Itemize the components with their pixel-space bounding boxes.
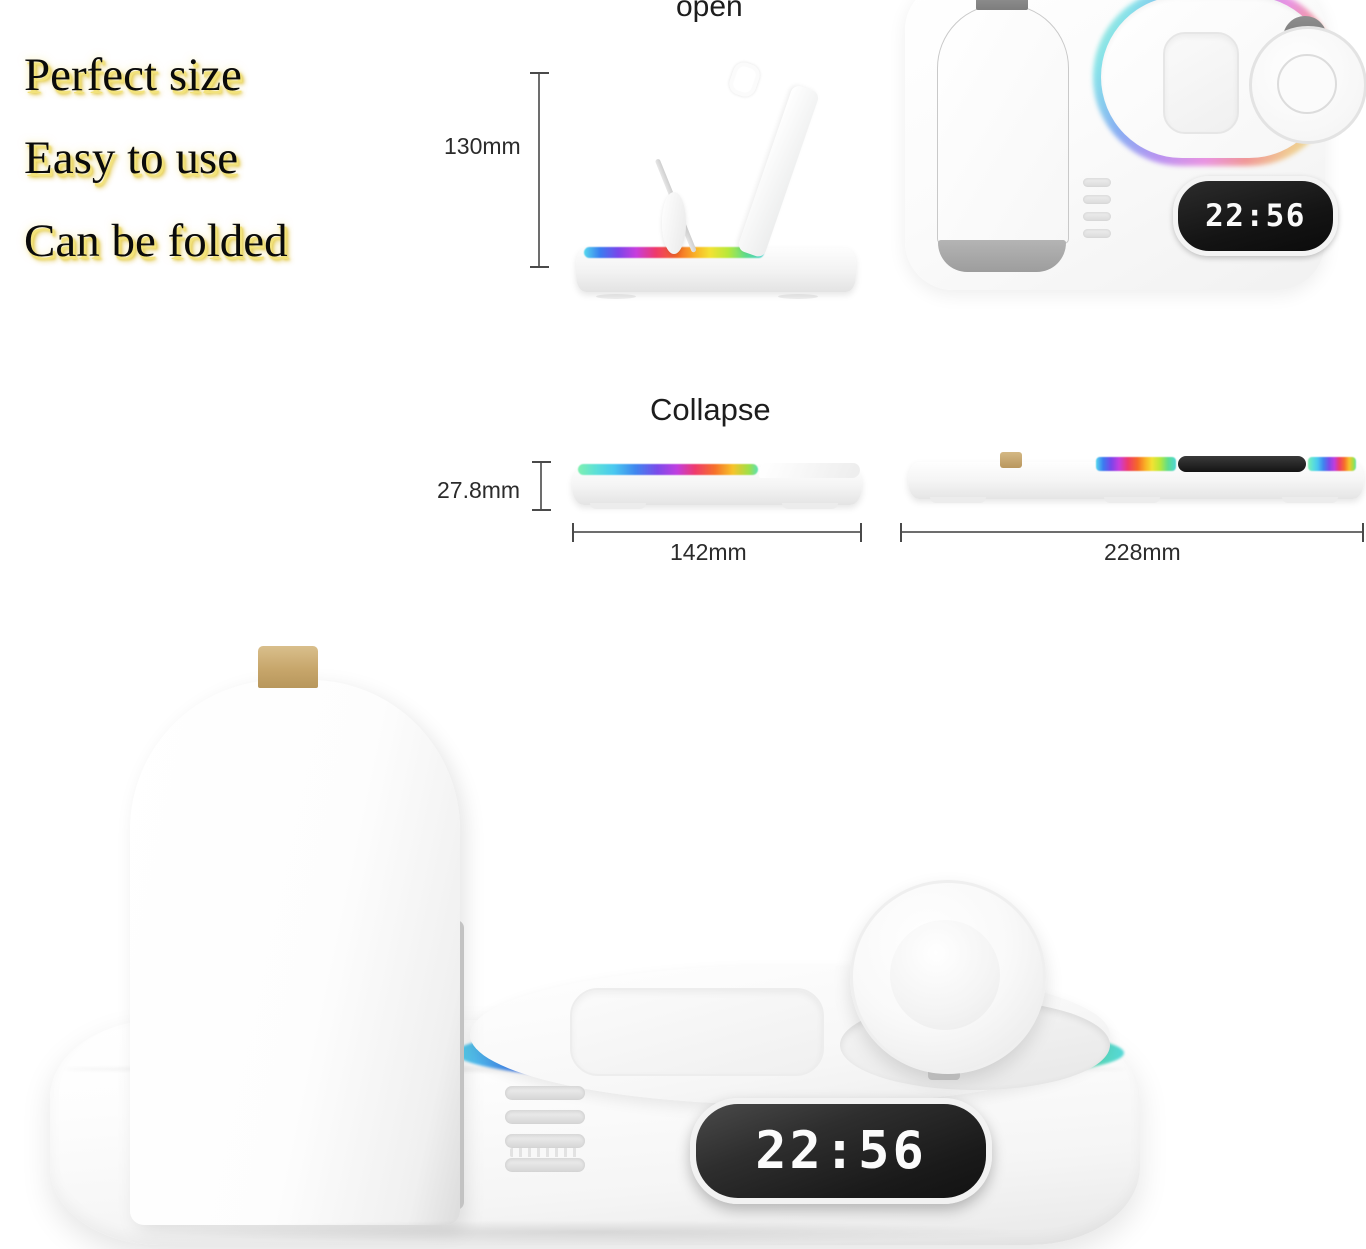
dimension-stem: [540, 461, 542, 511]
headline-block: Perfect size Easy to use Can be folded: [24, 34, 444, 283]
earbuds-charging-pad: [570, 988, 824, 1076]
dimension-cap-right: [1362, 523, 1364, 542]
collapse-section-label: Collapse: [650, 392, 771, 428]
open-section-label: open: [676, 0, 743, 24]
dimension-stem: [572, 531, 862, 533]
led-clock-display: 22:56: [1173, 176, 1338, 256]
speaker-slot: [505, 1134, 585, 1148]
dimension-cap-top: [532, 461, 551, 463]
speaker-grille: [505, 1086, 585, 1182]
dock-foot-right: [778, 294, 818, 299]
ground-shadow: [150, 1220, 1030, 1244]
product-collapsed-long-side-view: [908, 448, 1364, 510]
dimension-stem: [900, 531, 1364, 533]
dock-foot-left: [596, 294, 636, 299]
dimension-label-collapsed-width-short: 142mm: [670, 539, 747, 566]
led-clock-display: [1178, 456, 1306, 472]
charging-deck: [1101, 0, 1330, 158]
phone-stand-connector-tab: [976, 0, 1028, 10]
product-top-down-view: 22:56: [905, 0, 1325, 290]
speaker-slot: [505, 1110, 585, 1124]
clock-time-text: 22:56: [1205, 198, 1306, 234]
phone-stand-foot: [938, 240, 1066, 272]
speaker-slot: [1083, 229, 1111, 238]
speaker-slot: [505, 1158, 585, 1172]
stand-top-hook: [726, 60, 762, 100]
watch-charger-coil: [1277, 54, 1337, 114]
dimension-cap-left: [900, 523, 902, 542]
dimension-cap-bottom: [530, 266, 549, 268]
product-collapsed-short-side-view: [572, 455, 862, 517]
gold-connector-pin: [258, 646, 318, 688]
dimension-label-open-height: 130mm: [444, 133, 521, 160]
watch-charger-puck: [662, 192, 686, 254]
clock-time-text: 22:56: [755, 1121, 927, 1181]
dimension-label-collapsed-height: 27.8mm: [437, 477, 520, 504]
led-clock-display: 22:56: [690, 1098, 992, 1204]
dimension-stem: [538, 72, 540, 268]
dock-foot-left: [590, 503, 646, 509]
speaker-slot: [1083, 178, 1111, 187]
rgb-ambient-light-strip: [578, 464, 758, 475]
phone-stand-panel: [937, 4, 1069, 244]
dimension-cap-bottom: [532, 509, 551, 511]
folded-phone-stand-panel: [758, 463, 861, 478]
speaker-slot: [505, 1086, 585, 1100]
rgb-ambient-light-strip-right: [1308, 457, 1356, 471]
dock-foot-right: [1282, 497, 1338, 503]
headline-line-1: Perfect size: [24, 34, 444, 117]
speaker-slot: [1083, 195, 1111, 204]
model-label: [510, 1148, 580, 1157]
rgb-ambient-light-strip: [1096, 457, 1176, 471]
watch-charger-coil: [890, 920, 1000, 1030]
product-hero-photo: 22:56: [30, 620, 1150, 1249]
speaker-slot: [1083, 212, 1111, 221]
dock-foot-right: [782, 503, 838, 509]
headline-line-3: Can be folded: [24, 200, 444, 283]
dimension-cap-top: [530, 72, 549, 74]
dimension-line-open-height: [529, 72, 549, 268]
phone-stand-panel: [130, 680, 460, 1225]
headline-line-2: Easy to use: [24, 117, 444, 200]
dimension-line-collapsed-height: [531, 461, 551, 511]
gold-connector-pin: [1000, 452, 1022, 468]
dock-foot-center: [1104, 497, 1160, 503]
speaker-grille: [1083, 178, 1111, 246]
dimension-cap-right: [860, 523, 862, 542]
dimension-label-collapsed-width-long: 228mm: [1104, 539, 1181, 566]
product-open-side-view: [566, 46, 866, 296]
earbuds-charging-pad: [1163, 32, 1239, 134]
dimension-cap-left: [572, 523, 574, 542]
phone-stand-panel: [737, 84, 820, 259]
dock-foot-left: [930, 497, 986, 503]
